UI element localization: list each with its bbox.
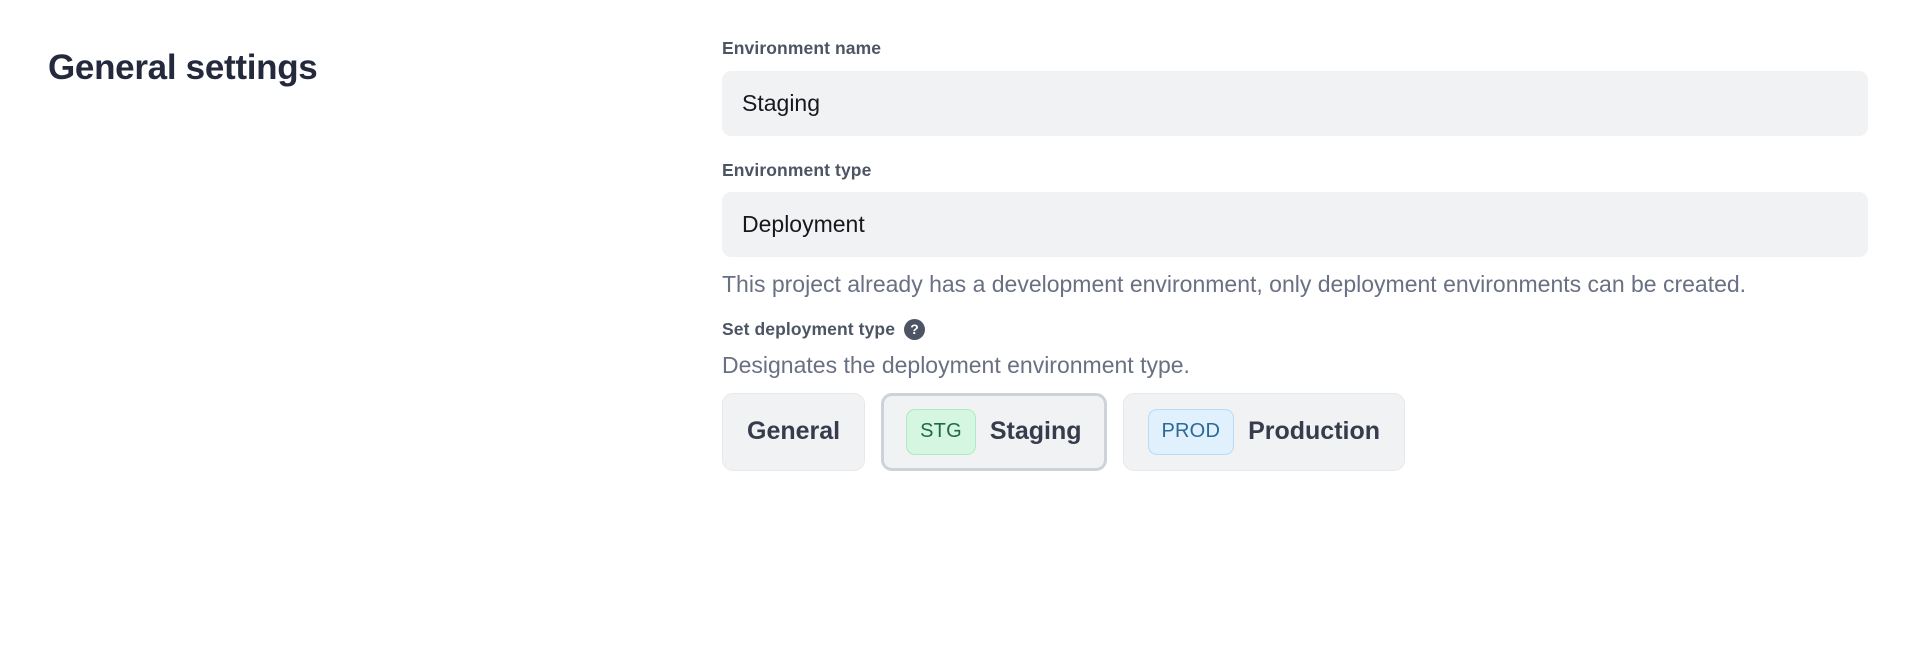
- environment-type-field-group: Environment type This project already ha…: [722, 158, 1868, 301]
- environment-type-label: Environment type: [722, 158, 1868, 183]
- question-mark-icon[interactable]: ?: [904, 319, 925, 340]
- prod-badge: PROD: [1148, 409, 1235, 455]
- stg-badge: STG: [906, 409, 976, 455]
- deployment-option-staging-label: Staging: [990, 417, 1082, 446]
- deployment-type-label: Set deployment type: [722, 319, 895, 340]
- page-title: General settings: [48, 47, 668, 89]
- deployment-option-general-label: General: [747, 417, 840, 446]
- deployment-type-label-row: Set deployment type ?: [722, 319, 1868, 340]
- environment-name-field-group: Environment name: [722, 36, 1868, 136]
- general-settings-page: General settings Environment name Enviro…: [0, 0, 1916, 652]
- deployment-option-production-label: Production: [1248, 417, 1380, 446]
- environment-name-input[interactable]: [722, 71, 1868, 136]
- deployment-option-production[interactable]: PROD Production: [1123, 393, 1406, 471]
- deployment-option-staging[interactable]: STG Staging: [881, 393, 1106, 471]
- deployment-type-block: Set deployment type ? Designates the dep…: [722, 319, 1868, 471]
- deployment-option-general[interactable]: General: [722, 393, 865, 471]
- deployment-type-option-group: General STG Staging PROD Production: [722, 393, 1868, 471]
- environment-name-label: Environment name: [722, 36, 1868, 61]
- environment-type-input[interactable]: [722, 192, 1868, 257]
- environment-type-helper-text: This project already has a development e…: [722, 268, 1868, 301]
- settings-form: Environment name Environment type This p…: [722, 36, 1868, 471]
- deployment-type-description: Designates the deployment environment ty…: [722, 349, 1868, 381]
